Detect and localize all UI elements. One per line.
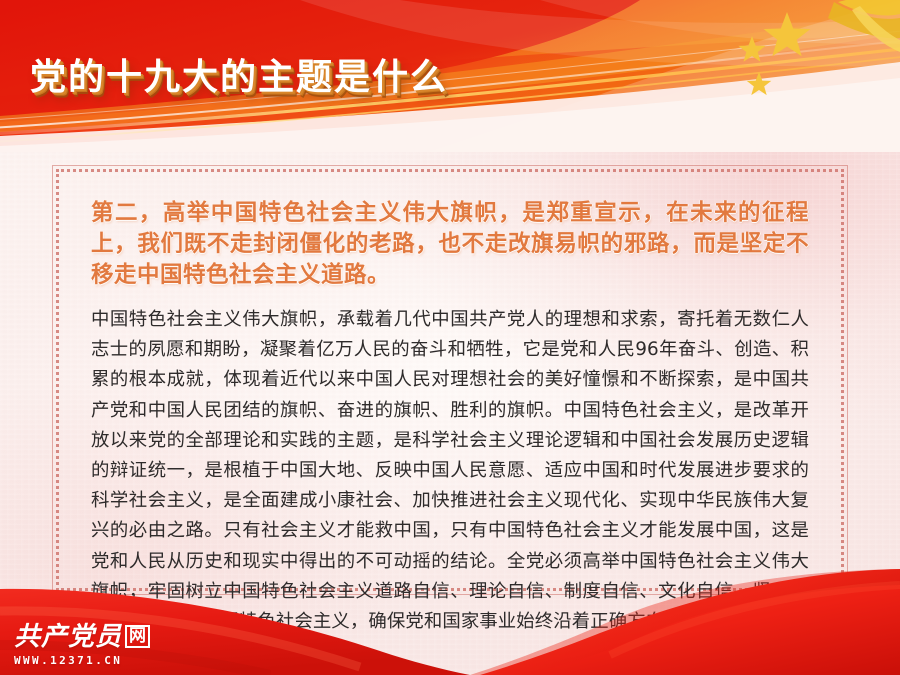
logo-wordmark: 共产党员 网 <box>14 624 164 650</box>
header-banner: 党的十九大的主题是什么 <box>0 0 900 152</box>
poster-page: 党的十九大的主题是什么 第二，高举中国特色社会主义伟大旗帜，是郑重宣示，在未来的… <box>0 0 900 675</box>
logo-script-text: 共产党员 <box>14 624 122 650</box>
site-logo[interactable]: 共产党员 网 WWW.12371.CN <box>14 624 164 667</box>
highlight-heading: 第二，高举中国特色社会主义伟大旗帜，是郑重宣示，在未来的征程上，我们既不走封闭僵… <box>91 198 809 291</box>
logo-boxed-char: 网 <box>125 625 150 648</box>
logo-url: WWW.12371.CN <box>14 654 164 667</box>
content-card-border: 第二，高举中国特色社会主义伟大旗帜，是郑重宣示，在未来的征程上，我们既不走封闭僵… <box>56 169 844 591</box>
body-paragraph: 中国特色社会主义伟大旗帜，承载着几代中国共产党人的理想和求索，寄托着无数仁人志士… <box>91 305 809 637</box>
content-card: 第二，高举中国特色社会主义伟大旗帜，是郑重宣示，在未来的征程上，我们既不走封闭僵… <box>52 165 848 595</box>
page-title: 党的十九大的主题是什么 <box>30 48 448 100</box>
